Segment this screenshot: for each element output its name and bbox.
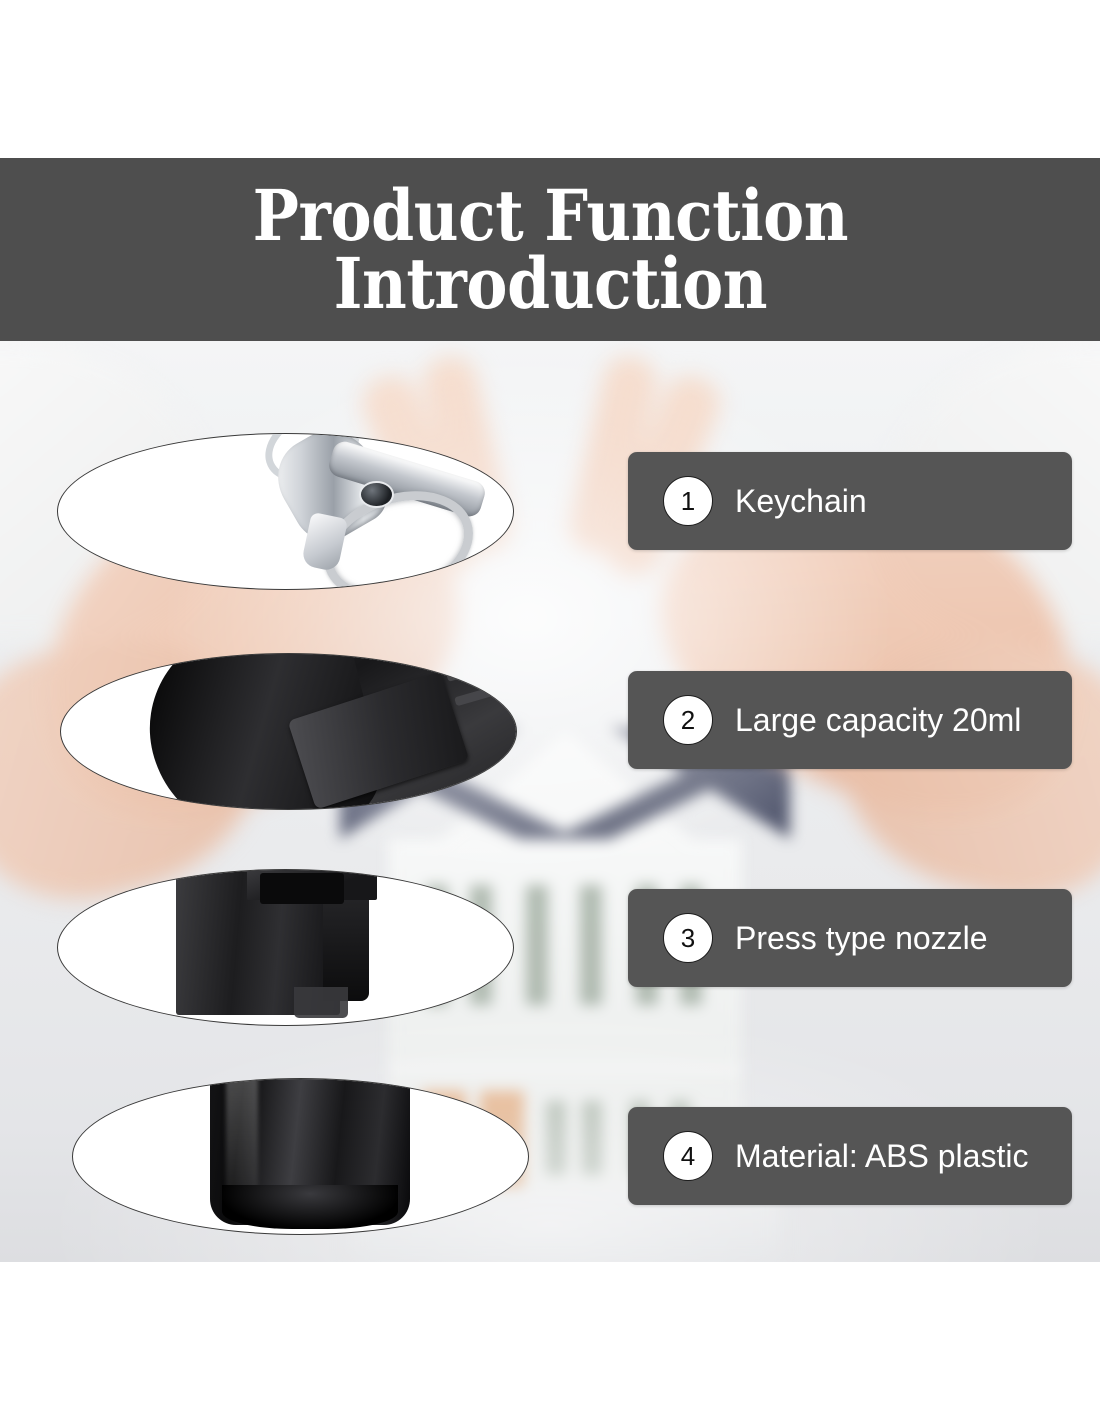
feature-number-2: 2 bbox=[663, 695, 713, 745]
feature-label-3[interactable]: 3 Press type nozzle bbox=[628, 889, 1072, 987]
callout-oval-capacity bbox=[60, 653, 517, 810]
feature-label-2[interactable]: 2 Large capacity 20ml bbox=[628, 671, 1072, 769]
keychain-clasp-icon bbox=[249, 433, 514, 590]
feature-text-2: Large capacity 20ml bbox=[735, 702, 1021, 739]
callout-oval-keychain bbox=[57, 433, 514, 590]
callout-oval-material bbox=[72, 1078, 529, 1235]
feature-text-1: Keychain bbox=[735, 483, 867, 520]
press-nozzle-icon bbox=[176, 869, 385, 1022]
feature-number-1: 1 bbox=[663, 476, 713, 526]
bottle-body-icon bbox=[170, 653, 517, 810]
feature-number-3: 3 bbox=[663, 913, 713, 963]
callout-oval-nozzle bbox=[57, 869, 514, 1026]
page-title: Product Function Introduction bbox=[226, 182, 874, 316]
bottle-base-icon bbox=[210, 1078, 410, 1225]
product-photo-region: 1 Keychain 2 Large capacity 20ml 3 Press… bbox=[0, 341, 1100, 1262]
feature-label-4[interactable]: 4 Material: ABS plastic bbox=[628, 1107, 1072, 1205]
feature-label-1[interactable]: 1 Keychain bbox=[628, 452, 1072, 550]
header-banner: Product Function Introduction bbox=[0, 158, 1100, 341]
feature-number-4: 4 bbox=[663, 1131, 713, 1181]
feature-text-4: Material: ABS plastic bbox=[735, 1138, 1028, 1175]
feature-text-3: Press type nozzle bbox=[735, 920, 988, 957]
